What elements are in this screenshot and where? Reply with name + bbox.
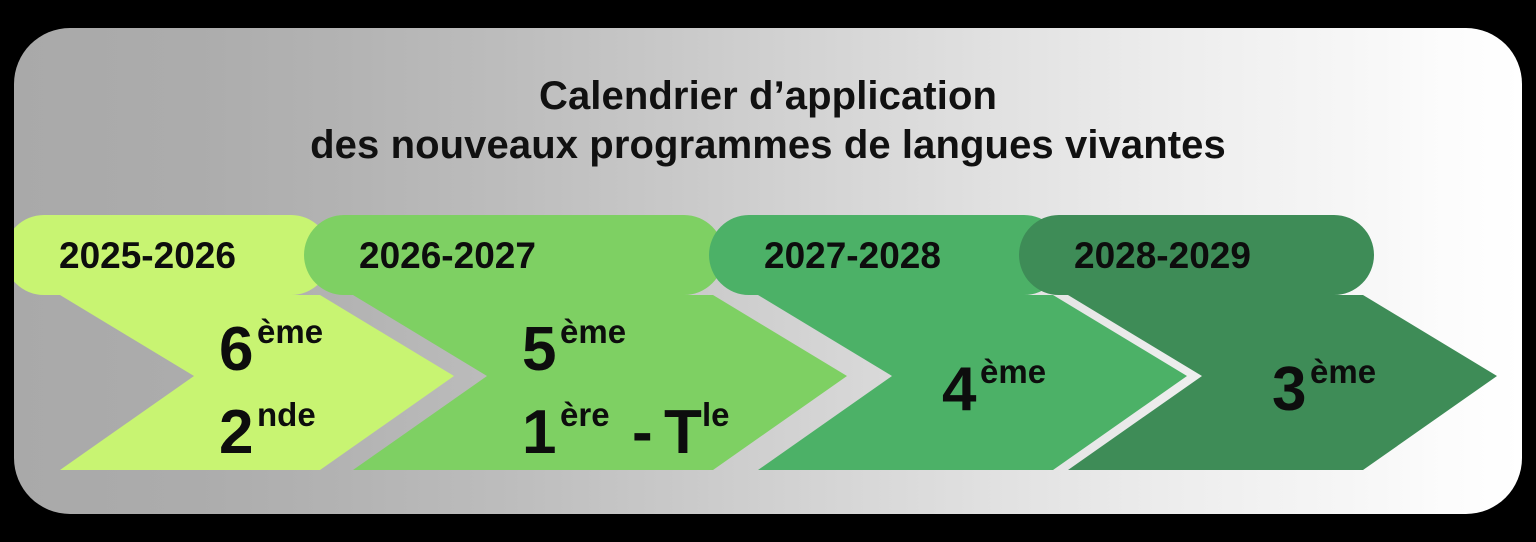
step-3-year-label: 2027-2028 [764,235,941,276]
step-3-grade-1-sup: ème [980,353,1046,390]
infographic-root: Calendrier d’application des nouveaux pr… [0,0,1536,542]
step-2-grade-1-sup: ème [560,313,626,350]
timeline-chevrons: 2025-2026 6 ème 2 nde 2026-2027 5 ème 1 … [14,28,1522,514]
step-1-grade-2-main: 2 [219,398,253,467]
step-3-grade-1-main: 4 [942,355,977,424]
step-1-year-label: 2025-2026 [59,235,236,276]
step-2-grade-2-main: 1 [522,398,556,467]
step-4-year-label: 2028-2029 [1074,235,1251,276]
step-2-grade-2-main2: T [664,398,702,467]
step-1-grade-1-main: 6 [219,315,253,384]
step-2-grade-2-sup: ère [560,396,610,433]
step-2-grade-2-sup2: le [702,396,730,433]
step-2-grade-1-main: 5 [522,315,556,384]
step-1-grade-1-sup: ème [257,313,323,350]
infographic-card: Calendrier d’application des nouveaux pr… [14,28,1522,514]
step-2-year-label: 2026-2027 [359,235,536,276]
step-2-grade-2-separator: - [632,398,653,467]
step-4-grade-1-sup: ème [1310,353,1376,390]
step-4-grade-1-main: 3 [1272,355,1306,424]
step-1-grade-2-sup: nde [257,396,316,433]
